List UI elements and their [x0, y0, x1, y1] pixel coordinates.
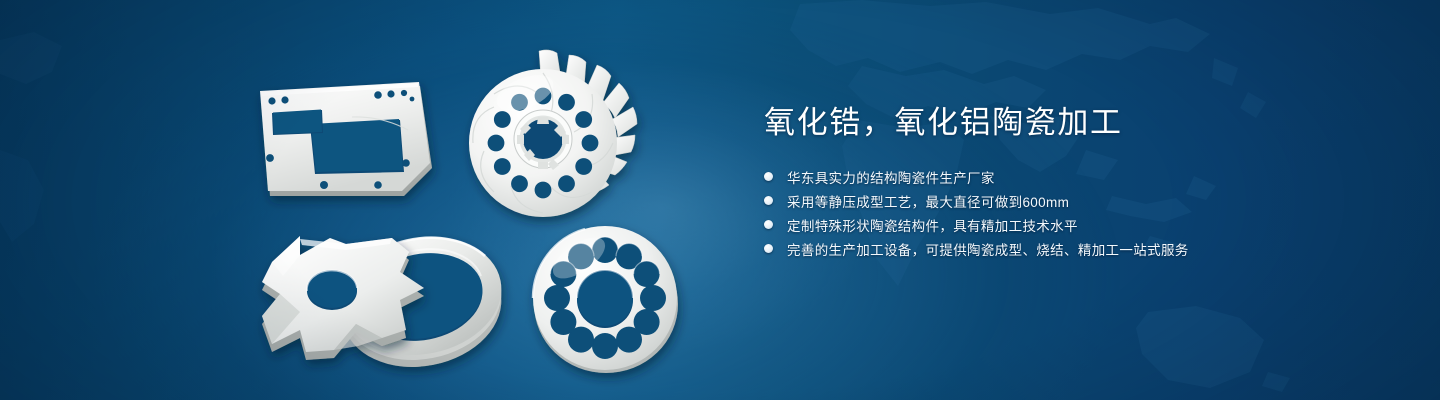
bullet-dot-icon	[764, 196, 773, 205]
feature-text: 完善的生产加工设备，可提供陶瓷成型、烧结、精加工一站式服务	[787, 239, 1189, 259]
bullet-dot-icon	[764, 220, 773, 229]
bullet-dot-icon	[764, 244, 773, 253]
feature-text: 华东具实力的结构陶瓷件生产厂家	[787, 167, 995, 187]
feature-list: 华东具实力的结构陶瓷件生产厂家 采用等静压成型工艺，最大直径可做到600mm 定…	[764, 165, 1364, 261]
bullet-dot-icon	[764, 172, 773, 181]
banner-content: 氧化锆，氧化铝陶瓷加工 华东具实力的结构陶瓷件生产厂家 采用等静压成型工艺，最大…	[764, 104, 1364, 261]
banner-headline: 氧化锆，氧化铝陶瓷加工	[764, 104, 1364, 143]
list-item: 采用等静压成型工艺，最大直径可做到600mm	[764, 189, 1364, 213]
feature-text: 定制特殊形状陶瓷结构件，具有精加工技术水平	[787, 215, 1078, 235]
list-item: 完善的生产加工设备，可提供陶瓷成型、烧结、精加工一站式服务	[764, 237, 1364, 261]
list-item: 华东具实力的结构陶瓷件生产厂家	[764, 165, 1364, 189]
promo-banner: 氧化锆，氧化铝陶瓷加工 华东具实力的结构陶瓷件生产厂家 采用等静压成型工艺，最大…	[0, 0, 1440, 400]
feature-text: 采用等静压成型工艺，最大直径可做到600mm	[787, 191, 1069, 211]
list-item: 定制特殊形状陶瓷结构件，具有精加工技术水平	[764, 213, 1364, 237]
